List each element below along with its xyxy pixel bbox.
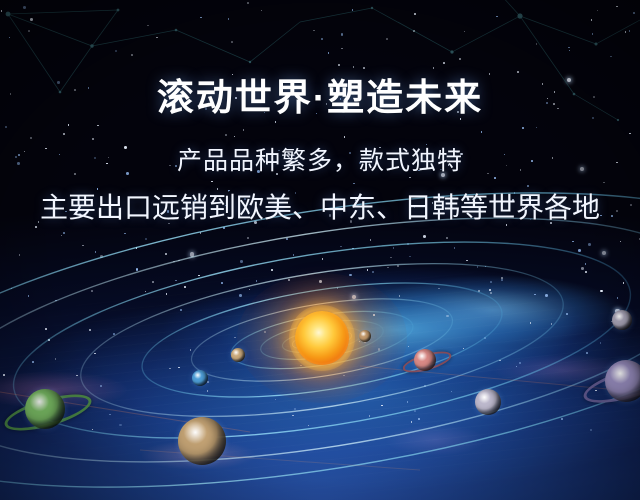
star (454, 247, 456, 249)
star (485, 266, 487, 268)
star (489, 289, 491, 291)
star (408, 346, 410, 348)
star (180, 309, 182, 311)
star (247, 237, 249, 239)
planet-purple-ringed-body (605, 360, 640, 402)
star (234, 337, 236, 339)
star (367, 269, 369, 271)
star (169, 368, 171, 370)
star (207, 381, 209, 383)
star (207, 390, 209, 392)
star (407, 243, 409, 245)
star (94, 353, 96, 355)
sun (295, 311, 349, 365)
star (256, 280, 258, 282)
star (173, 261, 175, 263)
star (407, 401, 409, 403)
star (92, 429, 94, 431)
star (620, 241, 622, 243)
star (28, 295, 30, 297)
star (581, 267, 584, 270)
star (113, 333, 115, 335)
planet-rose-ringed-ring (401, 348, 454, 377)
star (501, 277, 503, 279)
star (463, 348, 465, 350)
star (414, 410, 416, 412)
star (623, 282, 625, 284)
star (136, 268, 139, 271)
star (48, 339, 50, 341)
star (585, 263, 587, 265)
planet-green-ringed-ring (1, 387, 95, 438)
star (446, 237, 448, 239)
star (100, 255, 103, 258)
star (516, 366, 518, 368)
star (249, 289, 251, 291)
sun-flare (289, 305, 355, 371)
star (91, 290, 93, 292)
star (387, 267, 389, 269)
star (370, 239, 372, 241)
star (566, 313, 568, 315)
star (271, 269, 273, 271)
star (393, 247, 395, 249)
star (178, 260, 180, 262)
star (76, 375, 78, 377)
star (399, 295, 401, 297)
star (352, 248, 354, 250)
star (145, 238, 147, 240)
star (617, 297, 619, 299)
star (136, 247, 138, 249)
star (19, 254, 21, 256)
star (411, 421, 413, 423)
star (35, 226, 37, 228)
star (451, 391, 453, 393)
star (63, 232, 65, 234)
star (61, 235, 63, 237)
star (95, 251, 97, 253)
star (595, 390, 597, 392)
star (286, 238, 288, 240)
star (490, 292, 492, 294)
star (166, 293, 168, 295)
star (466, 260, 468, 262)
planet-earth-blue-body (192, 370, 208, 386)
star (124, 233, 126, 235)
page-title: 滚动世界·塑造未来 (0, 0, 640, 119)
star (545, 294, 548, 297)
planet-green-ringed-body (25, 389, 65, 429)
star (551, 323, 553, 325)
star (423, 235, 426, 238)
star (534, 294, 536, 296)
star (369, 415, 371, 417)
banner-text-block: 滚动世界·塑造未来 产品品种繁多，款式独特 主要出口远销到欧美、中东、日韩等世界… (0, 0, 640, 226)
star (390, 257, 392, 259)
star (109, 414, 111, 416)
star (477, 266, 479, 268)
star (478, 290, 480, 292)
star (611, 321, 613, 323)
planet-grey-lavender-body (475, 389, 501, 415)
star (418, 418, 420, 420)
star (340, 246, 342, 248)
star (145, 291, 147, 293)
star (292, 415, 294, 417)
star (3, 374, 5, 376)
star (175, 280, 177, 282)
star (190, 349, 192, 351)
star (190, 252, 194, 256)
star (178, 367, 180, 369)
star (221, 282, 223, 284)
star (438, 288, 440, 290)
star (615, 309, 619, 313)
star (590, 429, 592, 431)
star (561, 418, 563, 420)
planet-purple-ringed-ring (580, 358, 640, 411)
star (372, 271, 374, 273)
star (55, 300, 57, 302)
star (223, 227, 225, 229)
star (275, 399, 277, 401)
star (600, 290, 603, 293)
subtitle-line-2: 主要出口远销到欧美、中东、日韩等世界各地 (0, 177, 640, 226)
planet-rose-ringed-body (414, 349, 436, 371)
star (184, 286, 186, 288)
star (55, 358, 57, 360)
star (585, 271, 587, 273)
star (490, 281, 492, 283)
star (239, 294, 242, 297)
star (519, 362, 522, 365)
star (152, 281, 154, 283)
star (11, 288, 13, 290)
star (397, 265, 399, 267)
star (499, 360, 501, 362)
star (602, 251, 606, 255)
star (322, 258, 324, 260)
star (501, 279, 503, 281)
space-banner: 滚动世界·塑造未来 产品品种繁多，款式独特 主要出口远销到欧美、中东、日韩等世界… (0, 0, 640, 500)
star (409, 256, 411, 258)
star (294, 408, 296, 410)
star (530, 322, 532, 324)
planet-grey-small-body (612, 310, 632, 330)
star (308, 425, 310, 427)
star (119, 424, 122, 427)
subtitle-line-1: 产品品种繁多，款式独特 (0, 119, 640, 177)
star (586, 352, 588, 354)
star (484, 337, 486, 339)
star (165, 253, 167, 255)
star (572, 241, 574, 243)
star (293, 254, 295, 256)
star (82, 245, 84, 247)
sun-body (295, 311, 349, 365)
star (32, 361, 34, 363)
planet-tan-large-body (178, 417, 226, 465)
star (600, 342, 602, 344)
star (240, 260, 243, 263)
star (200, 232, 202, 234)
star (424, 385, 426, 387)
star (588, 243, 591, 246)
star (89, 329, 91, 331)
star (198, 275, 200, 277)
star (45, 328, 47, 330)
star (381, 405, 383, 407)
star (578, 249, 581, 252)
star (446, 315, 449, 318)
star (100, 385, 102, 387)
